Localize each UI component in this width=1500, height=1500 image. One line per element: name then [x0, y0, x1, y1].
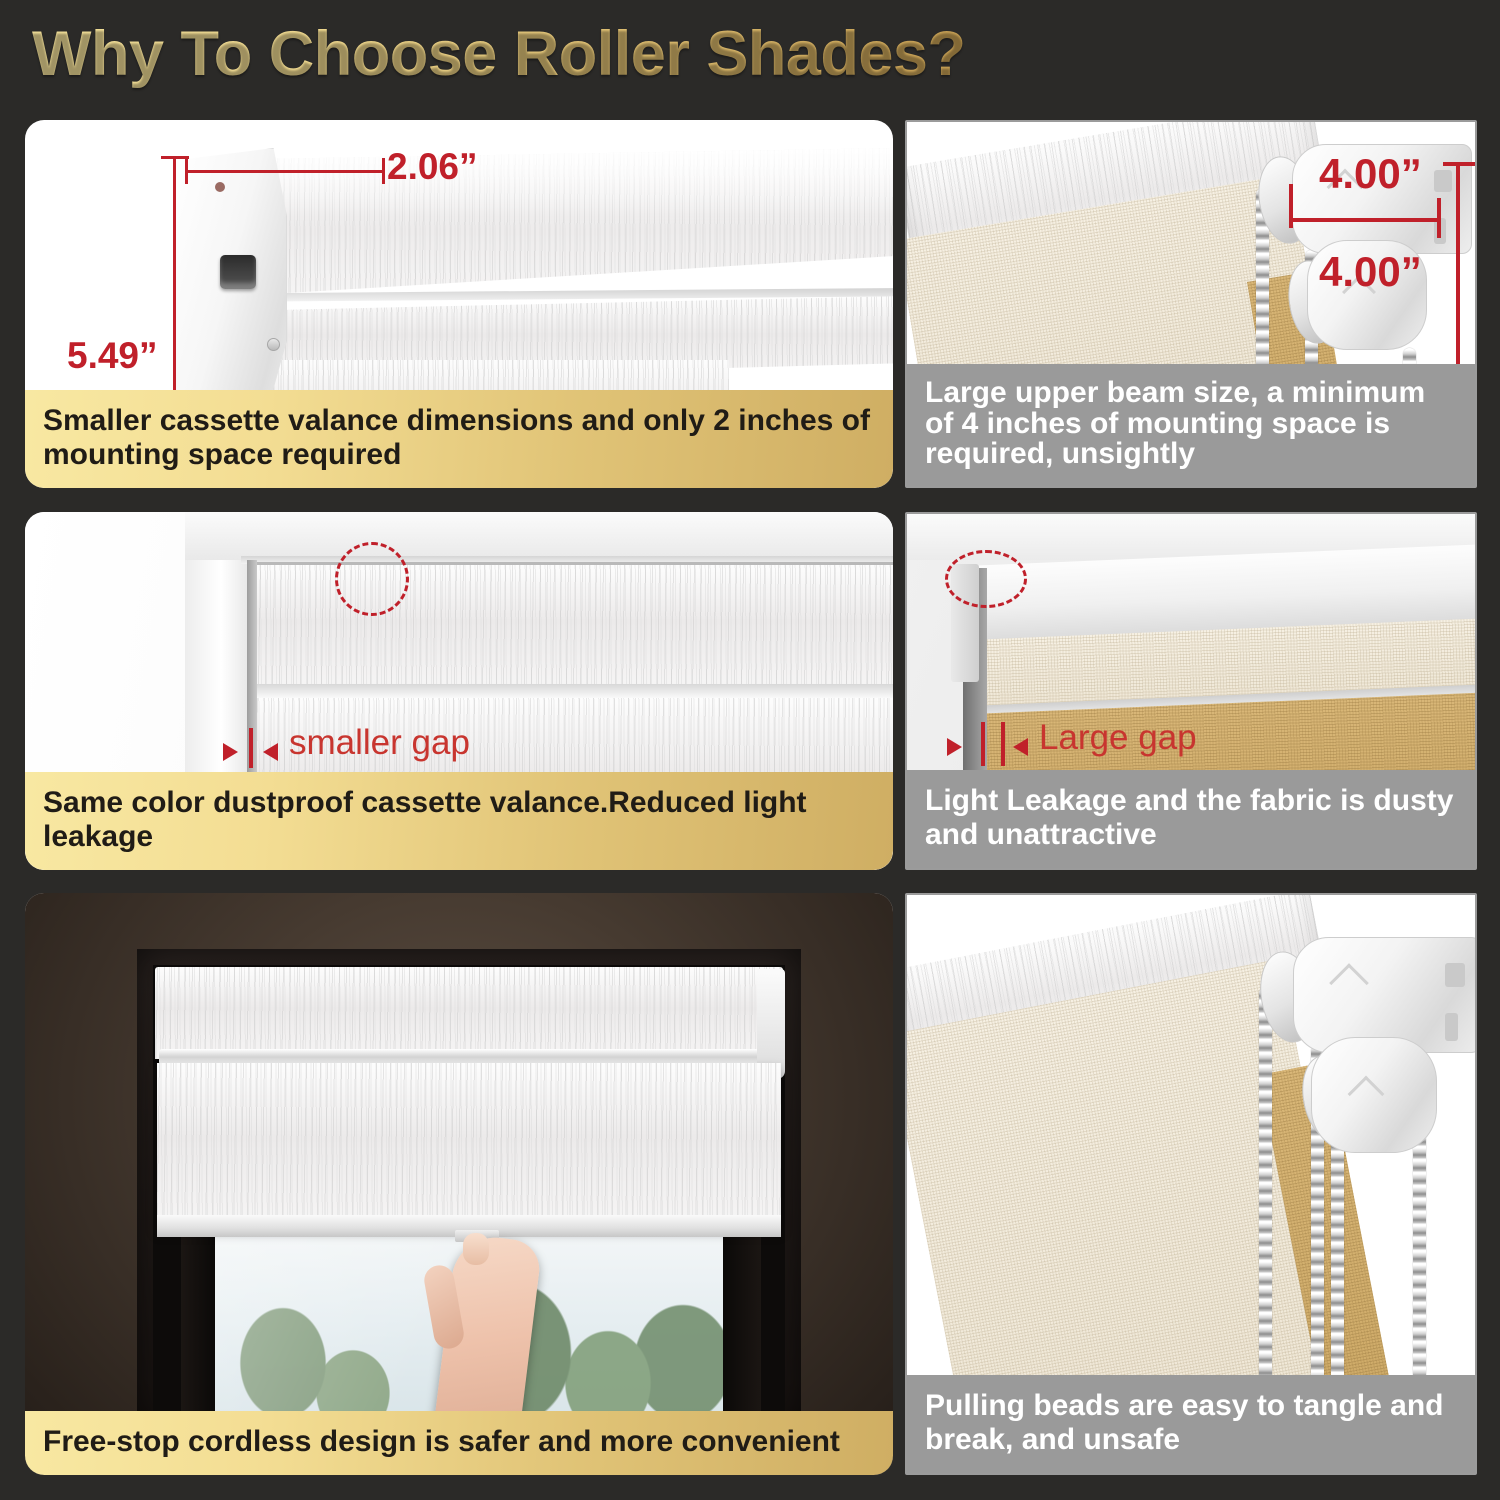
width-dimension-label: 2.06”: [387, 146, 478, 188]
large-gap-label: Large gap: [1039, 718, 1197, 758]
large-gap-marker-line-1: [981, 722, 985, 766]
gap-arrow-right-icon: [263, 743, 278, 761]
infographic-root: Why To Choose Roller Shades?: [0, 0, 1500, 1500]
beam-height-tick-top: [1443, 162, 1475, 166]
large-gap-arrow-right-icon: [1013, 738, 1028, 756]
large-gap-marker-line-2: [1001, 722, 1005, 766]
gap-highlight-circle: [335, 542, 409, 616]
panel-good-gap: smaller gap Same color dustproof cassett…: [25, 512, 893, 870]
panel-bad-beam: 4.00” 4.00” Large upper beam size, a min…: [905, 120, 1477, 488]
caption-good-cordless: Free-stop cordless design is safer and m…: [25, 1411, 893, 1475]
panel-bad-beads: Pulling beads are easy to tangle and bre…: [905, 893, 1477, 1475]
bead-chain-1: [1259, 987, 1272, 1439]
height-dimension-label: 5.49”: [67, 335, 158, 377]
cordless-shade-fabric: [157, 1063, 781, 1227]
beam-height-dimension-line: [1456, 162, 1460, 372]
beam-width-tick-right: [1437, 198, 1441, 238]
caption-bad-beam: Large upper beam size, a minimum of 4 in…: [907, 364, 1475, 486]
cordless-illustration: [25, 893, 893, 1475]
caption-bad-gap: Light Leakage and the fabric is dusty an…: [907, 770, 1475, 868]
beads-bracket-notch-2: [1445, 1013, 1458, 1041]
panel-bad-gap: Large gap Light Leakage and the fabric i…: [905, 512, 1477, 870]
gap-marker-line: [249, 728, 253, 768]
hand-finger-pinch: [463, 1233, 489, 1265]
beam-bracket-notch-1: [1434, 170, 1452, 192]
caption-bad-beads: Pulling beads are easy to tangle and bre…: [907, 1375, 1475, 1473]
caption-good-valance: Smaller cassette valance dimensions and …: [25, 390, 893, 488]
beam-width-dimension-label: 4.00”: [1319, 150, 1422, 198]
width-dimension-tick-left: [185, 158, 188, 184]
panel-good-valance: 5.49” 2.06” Smaller cassette valance dim…: [25, 120, 893, 488]
valance-screw-lower: [267, 338, 280, 351]
beads-bracket-notch-1: [1445, 963, 1465, 987]
width-dimension-tick-right: [382, 158, 385, 184]
window-sash-right: [723, 1231, 761, 1427]
large-gap-highlight-circle: [945, 550, 1027, 608]
gap-arrow-left-icon: [223, 743, 238, 761]
valance-mechanism-slot: [220, 255, 256, 289]
beam-width-tick-left: [1289, 184, 1293, 228]
cassette-head-shadowline: [251, 684, 893, 698]
cordless-head-rail: [155, 967, 783, 1059]
beam-height-dimension-label: 4.00”: [1319, 248, 1422, 296]
smaller-gap-label: smaller gap: [289, 723, 470, 763]
width-dimension-line: [185, 170, 385, 173]
caption-good-gap: Same color dustproof cassette valance.Re…: [25, 772, 893, 870]
large-gap-arrow-left-icon: [947, 738, 962, 756]
window-sash-left: [181, 1231, 215, 1427]
valance-screw-upper: [215, 182, 225, 192]
window-frame-header: [185, 512, 893, 560]
panel-good-cordless: Free-stop cordless design is safer and m…: [25, 893, 893, 1475]
page-title: Why To Choose Roller Shades?: [32, 18, 965, 90]
beam-width-dimension-line: [1289, 218, 1441, 222]
